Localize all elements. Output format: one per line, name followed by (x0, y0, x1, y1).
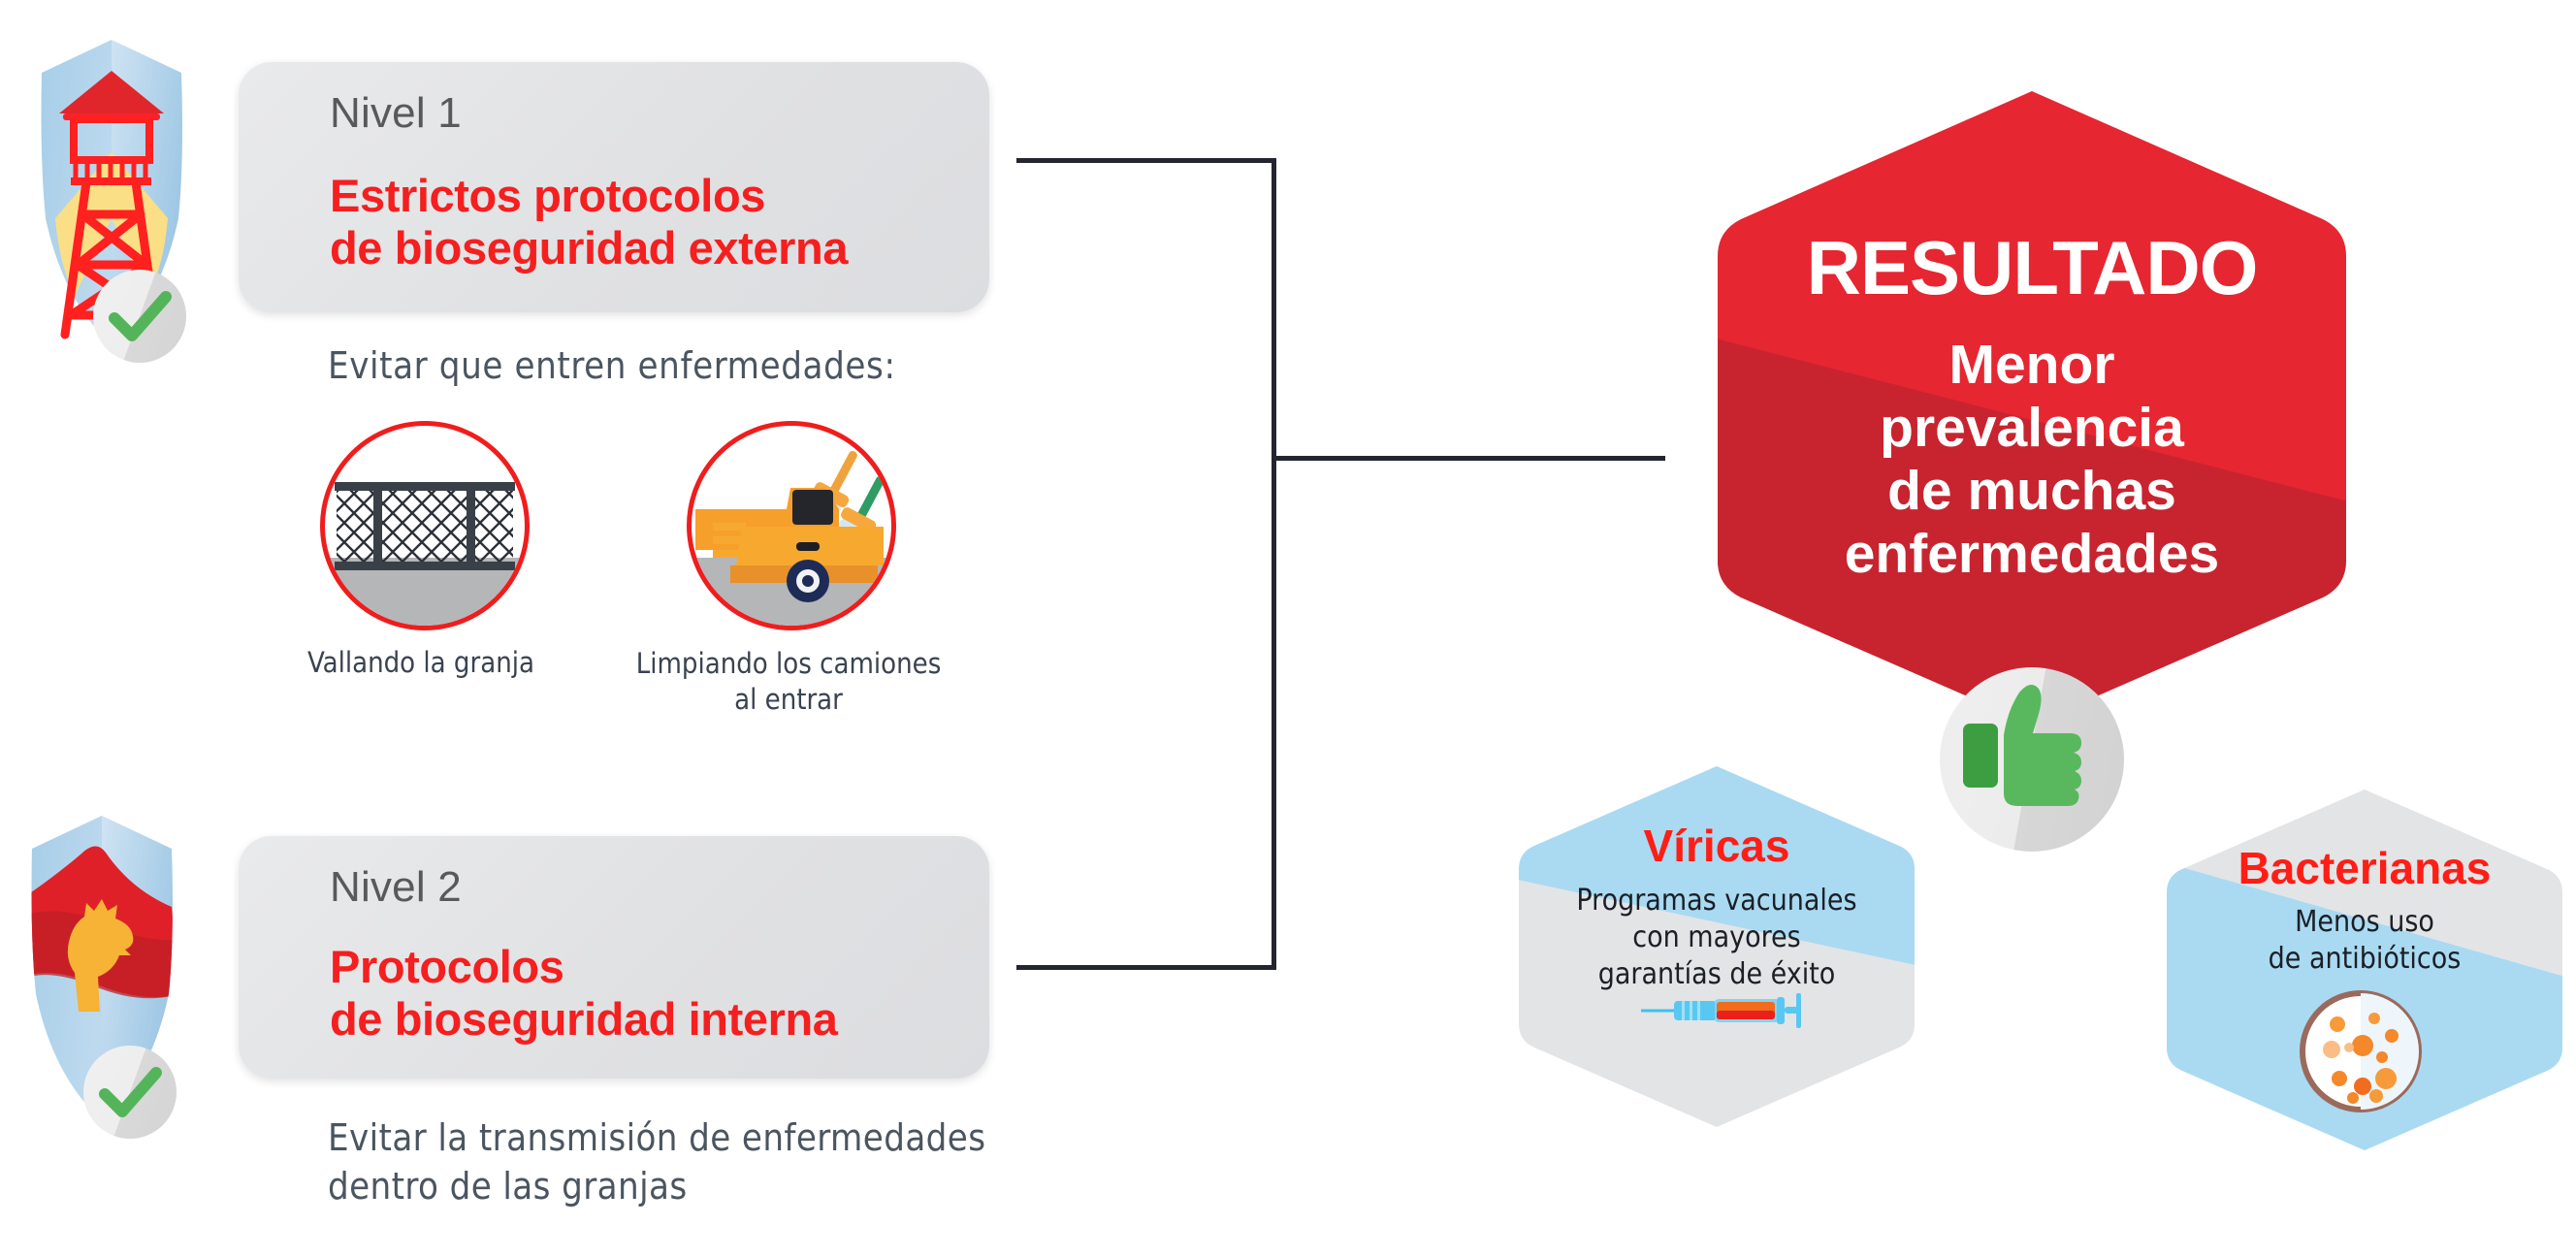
level2-level-label: Nivel 2 (330, 863, 462, 912)
truck-cleaning-icon (687, 421, 896, 630)
petri-dish-icon (2299, 989, 2423, 1113)
connector-right-horizontal (1272, 456, 1665, 461)
level2-title-line2: de bioseguridad interna (330, 993, 838, 1047)
connector-top-horizontal (1016, 158, 1276, 163)
outcome-viricas-text: Programas vacunales con mayores garantía… (1513, 883, 1920, 992)
thumbs-up-badge (1940, 667, 2124, 852)
outcome-viricas-title: Víricas (1513, 820, 1920, 872)
level1-title-line2: de bioseguridad externa (330, 222, 848, 275)
outcome-bacterianas-title: Bacterianas (2161, 842, 2568, 894)
syringe-icon (1639, 991, 1804, 1030)
thumbs-up-icon (1940, 667, 2124, 852)
connector-vertical (1272, 158, 1276, 970)
level2-title-line1: Protocolos (330, 941, 563, 994)
level2-caption: Evitar la transmisión de enfermedades de… (328, 1113, 985, 1210)
fence-item-label: Vallando la granja (287, 646, 555, 679)
infographic-canvas: Nivel 1 Estrictos protocolos de biosegur… (0, 0, 2576, 1257)
result-subtitle: Menor prevalencia de muchas enfermedades (1712, 334, 2352, 586)
level1-caption: Evitar que entren enfermedades: (328, 344, 896, 387)
green-check-icon (93, 270, 186, 363)
green-check-icon (83, 1046, 177, 1139)
fence-icon (320, 421, 530, 630)
connector-bottom-horizontal (1016, 965, 1276, 970)
level1-check-badge (93, 270, 186, 363)
result-title: RESULTADO (1712, 224, 2352, 312)
level1-level-label: Nivel 1 (330, 89, 462, 138)
level1-title-line1: Estrictos protocolos (330, 170, 765, 223)
truck-item-label: Limpiando los camiones al entrar (630, 646, 947, 718)
level2-check-badge (83, 1046, 177, 1139)
outcome-bacterianas-text: Menos uso de antibióticos (2161, 904, 2568, 978)
